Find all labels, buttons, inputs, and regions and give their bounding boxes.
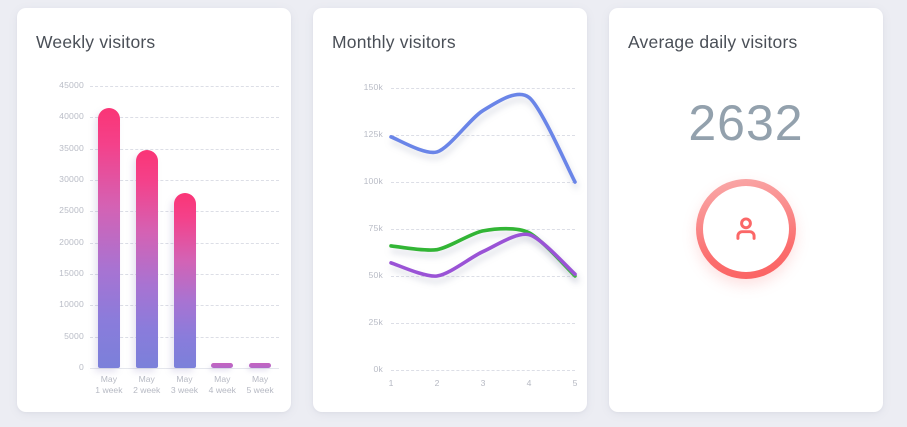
y-axis-tick-label: 40000 (27, 111, 84, 121)
y-axis-tick-label: 35000 (27, 143, 84, 153)
y-axis-tick-label: 50k (327, 270, 383, 280)
bar[interactable] (136, 150, 158, 368)
gridline (391, 88, 575, 89)
user-icon (696, 179, 796, 279)
y-axis-tick-label: 10000 (27, 299, 84, 309)
gridline (90, 337, 279, 338)
y-axis-tick-label: 5000 (27, 331, 84, 341)
page-title-average: Average daily visitors (609, 8, 883, 53)
bar[interactable] (174, 193, 196, 368)
bar[interactable] (98, 108, 120, 368)
gridline (391, 276, 575, 277)
x-axis-tick-label: May1 week (90, 374, 128, 396)
card-weekly-visitors: Weekly visitors 050001000015000200002500… (17, 8, 291, 412)
y-axis-tick-label: 150k (327, 82, 383, 92)
x-axis-tick-label: 3 (465, 378, 501, 389)
gridline (391, 182, 575, 183)
bar[interactable] (211, 363, 233, 368)
gridline (391, 370, 575, 371)
kpi-value: 2632 (609, 94, 883, 152)
y-axis-tick-label: 25k (327, 317, 383, 327)
x-axis-tick-label: 2 (419, 378, 455, 389)
y-axis-tick-label: 15000 (27, 268, 84, 278)
gridline (90, 368, 279, 369)
gridline (90, 180, 279, 181)
y-axis-tick-label: 20000 (27, 237, 84, 247)
line-series[interactable] (391, 229, 575, 276)
gridline (90, 274, 279, 275)
x-axis-tick-label: May2 week (128, 374, 166, 396)
weekly-visitors-bar-chart: 0500010000150002000025000300003500040000… (17, 8, 291, 412)
gridline (90, 117, 279, 118)
dashboard: Weekly visitors 050001000015000200002500… (0, 0, 907, 427)
y-axis-tick-label: 30000 (27, 174, 84, 184)
y-axis-tick-label: 75k (327, 223, 383, 233)
card-monthly-visitors: Monthly visitors 0k25k50k75k100k125k150k… (313, 8, 587, 412)
gridline (391, 135, 575, 136)
y-axis-tick-label: 125k (327, 129, 383, 139)
x-axis-tick-label: 1 (373, 378, 409, 389)
x-axis-tick-label: May3 week (166, 374, 204, 396)
monthly-visitors-line-chart: 0k25k50k75k100k125k150k12345 (313, 8, 587, 412)
gridline (391, 323, 575, 324)
line-series[interactable] (391, 94, 575, 182)
x-axis-tick-label: May5 week (241, 374, 279, 396)
gridline (90, 305, 279, 306)
gridline (90, 211, 279, 212)
gridline (90, 149, 279, 150)
y-axis-tick-label: 25000 (27, 205, 84, 215)
y-axis-tick-label: 45000 (27, 80, 84, 90)
gridline (391, 229, 575, 230)
x-axis-tick-label: 5 (557, 378, 587, 389)
y-axis-tick-label: 100k (327, 176, 383, 186)
gridline (90, 243, 279, 244)
page-title-monthly: Monthly visitors (313, 8, 587, 53)
y-axis-tick-label: 0 (27, 362, 84, 372)
card-average-daily-visitors: Average daily visitors 2632 (609, 8, 883, 412)
line-series[interactable] (391, 234, 575, 276)
x-axis-tick-label: May4 week (203, 374, 241, 396)
bar[interactable] (249, 363, 271, 368)
y-axis-tick-label: 0k (327, 364, 383, 374)
gridline (90, 86, 279, 87)
x-axis-tick-label: 4 (511, 378, 547, 389)
page-title-weekly: Weekly visitors (17, 8, 291, 53)
